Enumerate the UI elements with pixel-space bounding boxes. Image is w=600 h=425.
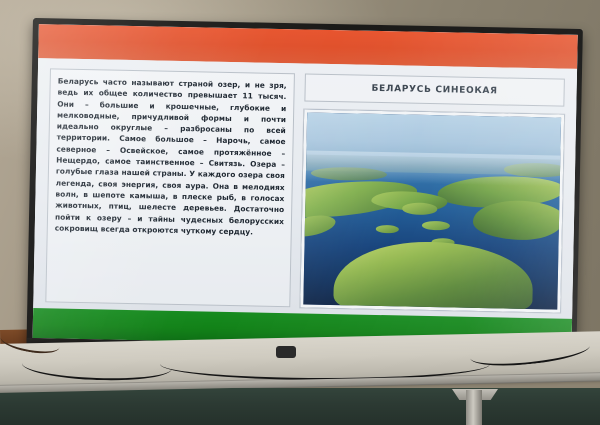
classroom-scene: Беларусь часто называют страной озер, и … bbox=[0, 0, 600, 425]
slide-body: Беларусь часто называют страной озер, и … bbox=[33, 58, 577, 319]
title-box: БЕЛАРУСЬ СИНЕОКАЯ bbox=[304, 73, 565, 106]
slide-title: БЕЛАРУСЬ СИНЕОКАЯ bbox=[371, 84, 497, 97]
photo-sheen bbox=[303, 113, 561, 310]
slide-left-column: Беларусь часто называют страной озер, и … bbox=[45, 68, 295, 307]
television[interactable]: Беларусь часто называют страной озер, и … bbox=[26, 18, 583, 363]
tv-screen[interactable]: Беларусь часто называют страной озер, и … bbox=[33, 24, 578, 349]
slide-right-column: БЕЛАРУСЬ СИНЕОКАЯ bbox=[300, 73, 565, 312]
chalkboard bbox=[0, 388, 600, 425]
power-cable bbox=[160, 348, 490, 380]
aerial-lakes-photo bbox=[303, 113, 561, 310]
text-box: Беларусь часто называют страной озер, и … bbox=[45, 68, 295, 307]
tv-bezel: Беларусь часто называют страной озер, и … bbox=[26, 18, 583, 363]
presentation-slide: Беларусь часто называют страной озер, и … bbox=[33, 24, 578, 349]
photo-frame bbox=[300, 109, 564, 312]
slide-body-text: Беларусь часто называют страной озер, и … bbox=[55, 76, 287, 239]
support-bracket bbox=[466, 390, 482, 425]
